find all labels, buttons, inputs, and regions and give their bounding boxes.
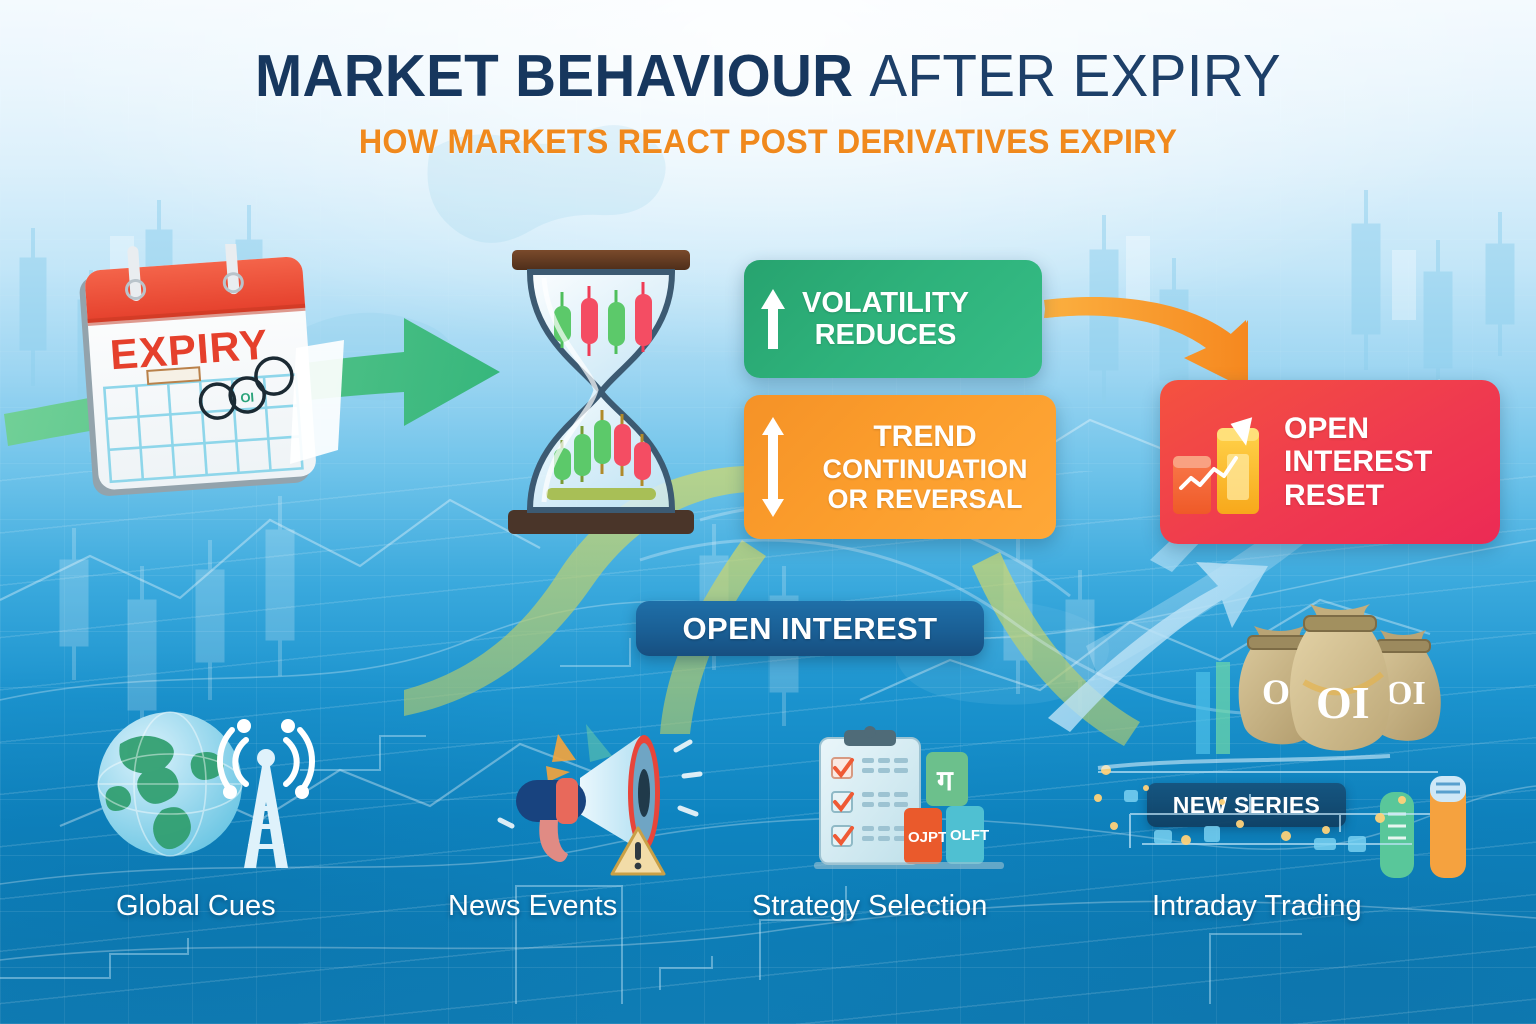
caption-strategy-selection: Strategy Selection: [752, 890, 987, 923]
infographic-canvas: MARKET BEHAVIOUR AFTER EXPIRY HOW MARKET…: [0, 0, 1536, 1024]
clipboard-checklist-icon: ग OJPT OLFT: [806, 724, 1012, 876]
bar-chart-rising-icon: [1160, 406, 1278, 518]
open-interest-banner[interactable]: OPEN INTEREST: [636, 601, 984, 656]
page-subtitle: HOW MARKETS REACT POST DERIVATIVES EXPIR…: [38, 123, 1497, 162]
money-bags-oi-icon: OI OI OI: [1196, 586, 1458, 756]
caption-news-events-label: News Events: [448, 890, 617, 922]
page-title-bold: MARKET BEHAVIOUR: [255, 43, 853, 109]
intraday-glow-chart: [1090, 752, 1470, 872]
up-down-arrow-icon: [744, 415, 802, 519]
caption-intraday-trading-label: Intraday Trading: [1152, 890, 1362, 922]
callout-trend-line1: TREND: [802, 420, 1048, 454]
svg-text:OI: OI: [1316, 677, 1370, 728]
globe-antenna-icon: [96, 696, 316, 872]
strategy-block-label-1: OJPT: [908, 829, 947, 846]
strategy-block-label-2: OLFT: [950, 827, 989, 844]
callout-oireset-line3: RESET: [1284, 479, 1432, 513]
open-interest-banner-label: OPEN INTEREST: [683, 611, 938, 647]
orange-curved-arrow-shape: [1042, 296, 1248, 390]
megaphone-alert-icon: [494, 716, 714, 876]
callout-volatility-reduces[interactable]: VOLATILITY REDUCES: [744, 260, 1042, 378]
callout-volatility-line2: REDUCES: [802, 319, 969, 351]
caption-strategy-selection-label: Strategy Selection: [752, 890, 987, 922]
hourglass-candlestick-icon: [496, 248, 706, 538]
caption-intraday-trading: Intraday Trading: [1152, 890, 1362, 923]
page-title: MARKET BEHAVIOUR AFTER EXPIRY: [31, 46, 1506, 107]
svg-text:OI: OI: [240, 390, 255, 406]
callout-trend-continuation-or-reversal[interactable]: TREND CONTINUATION OR REVERSAL: [744, 395, 1056, 539]
caption-global-cues-label: Global Cues: [116, 890, 276, 922]
callout-oireset-line1: OPEN: [1284, 412, 1432, 446]
header-block: MARKET BEHAVIOUR AFTER EXPIRY HOW MARKET…: [0, 46, 1536, 162]
expiry-calendar-icon: EXPIRY OI: [68, 244, 368, 514]
page-title-light: AFTER EXPIRY: [869, 43, 1281, 109]
svg-text:ग: ग: [936, 766, 954, 797]
callout-trend-line2: CONTINUATION: [802, 454, 1048, 484]
callout-open-interest-reset[interactable]: OPEN INTEREST RESET: [1160, 380, 1500, 544]
svg-text:OI: OI: [1386, 675, 1426, 712]
caption-global-cues: Global Cues: [116, 890, 276, 923]
up-arrow-icon: [744, 287, 802, 351]
callout-trend-line3: OR REVERSAL: [802, 484, 1048, 514]
callout-volatility-line1: VOLATILITY: [802, 287, 969, 319]
callout-oireset-line2: INTEREST: [1284, 445, 1432, 479]
caption-news-events: News Events: [448, 890, 617, 923]
